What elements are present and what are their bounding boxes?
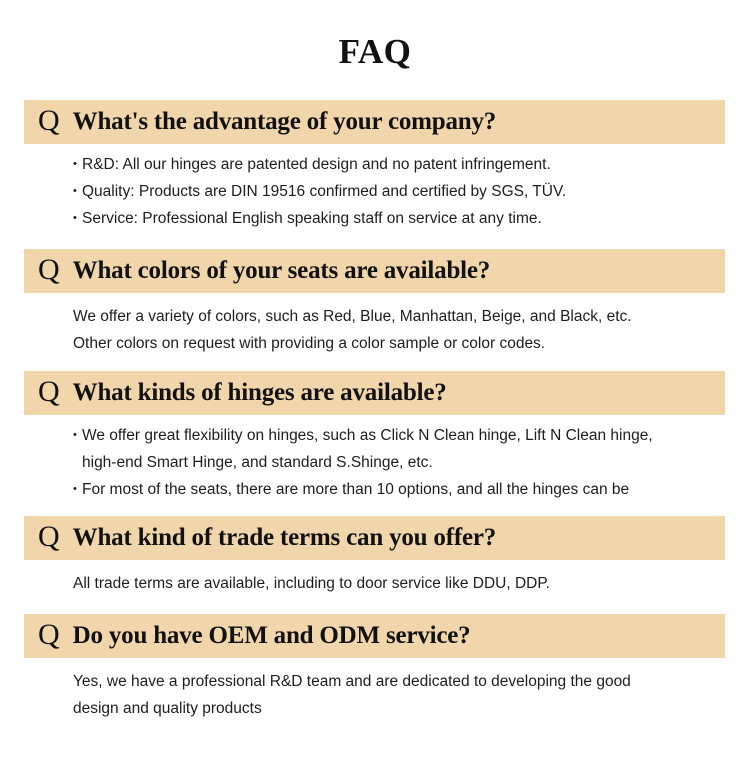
question-text: Do you have OEM and ODM service?	[73, 623, 471, 648]
question-bar[interactable]: Q What's the advantage of your company?	[24, 100, 725, 144]
question-text: What colors of your seats are available?	[73, 258, 490, 283]
question-bar[interactable]: Q Do you have OEM and ODM service?	[24, 614, 725, 658]
question-bar[interactable]: Q What kind of trade terms can you offer…	[24, 516, 725, 560]
question-bar[interactable]: Q What colors of your seats are availabl…	[24, 249, 725, 293]
question-marker-icon: Q	[38, 377, 60, 407]
spacer	[0, 597, 750, 614]
question-marker-icon: Q	[38, 522, 60, 552]
question-bar[interactable]: Q What kinds of hinges are available?	[24, 371, 725, 415]
faq-item: Q What's the advantage of your company? …	[0, 100, 750, 249]
faq-page: FAQ Q What's the advantage of your compa…	[0, 0, 750, 757]
spacer	[0, 357, 750, 371]
page-title: FAQ	[0, 0, 750, 69]
faq-item: Q What colors of your seats are availabl…	[0, 249, 750, 371]
answer-line: high-end Smart Hinge, and standard S.Shi…	[73, 449, 750, 476]
answer-block: Yes, we have a professional R&D team and…	[0, 658, 750, 722]
faq-list: Q What's the advantage of your company? …	[0, 100, 750, 722]
answer-line: All trade terms are available, including…	[73, 570, 750, 597]
question-marker-icon: Q	[38, 620, 60, 650]
question-text: What kind of trade terms can you offer?	[73, 525, 496, 550]
answer-line: R&D: All our hinges are patented design …	[73, 151, 750, 178]
answer-block: We offer a variety of colors, such as Re…	[0, 293, 750, 357]
answer-line: design and quality products	[73, 695, 750, 722]
question-marker-icon: Q	[38, 255, 60, 285]
answer-line: For most of the seats, there are more th…	[73, 476, 750, 503]
answer-line: We offer a variety of colors, such as Re…	[73, 303, 750, 330]
question-text: What's the advantage of your company?	[73, 109, 496, 134]
question-text: What kinds of hinges are available?	[73, 380, 447, 405]
spacer	[0, 232, 750, 249]
faq-item: Q Do you have OEM and ODM service? Yes, …	[0, 614, 750, 722]
answer-line: We offer great flexibility on hinges, su…	[73, 422, 750, 449]
faq-item: Q What kind of trade terms can you offer…	[0, 516, 750, 614]
faq-item: Q What kinds of hinges are available? We…	[0, 371, 750, 516]
answer-line: Other colors on request with providing a…	[73, 330, 750, 357]
answer-line: Yes, we have a professional R&D team and…	[73, 668, 750, 695]
answer-line: Quality: Products are DIN 19516 confirme…	[73, 178, 750, 205]
question-marker-icon: Q	[38, 106, 60, 136]
answer-block: All trade terms are available, including…	[0, 560, 750, 597]
answer-block: We offer great flexibility on hinges, su…	[0, 415, 750, 503]
answer-line: Service: Professional English speaking s…	[73, 205, 750, 232]
spacer	[0, 503, 750, 516]
answer-block: R&D: All our hinges are patented design …	[0, 144, 750, 232]
